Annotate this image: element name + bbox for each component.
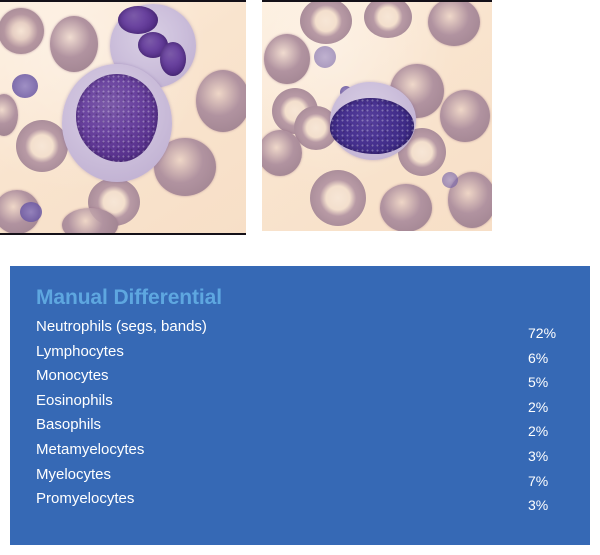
differential-label: Neutrophils (segs, bands) xyxy=(36,318,207,335)
platelet xyxy=(12,74,38,98)
platelet xyxy=(20,202,42,222)
differential-row: Eosinophils 2% xyxy=(10,392,590,417)
differential-value: 7% xyxy=(528,473,548,489)
manual-differential-title: Manual Differential xyxy=(36,286,222,310)
platelet xyxy=(442,172,458,188)
differential-label: Lymphocytes xyxy=(36,343,124,360)
differential-label: Myelocytes xyxy=(36,466,111,483)
differential-label: Metamyelocytes xyxy=(36,441,144,458)
differential-value: 2% xyxy=(528,423,548,439)
red-blood-cell xyxy=(50,16,98,72)
differential-value: 5% xyxy=(528,374,548,390)
red-blood-cell xyxy=(196,70,246,132)
red-blood-cell xyxy=(264,34,310,84)
differential-row: Promyelocytes 3% xyxy=(10,490,590,515)
manual-differential-panel: Manual Differential Neutrophils (segs, b… xyxy=(10,266,590,545)
red-blood-cell xyxy=(62,208,118,235)
neutrophil-nucleus-lobe xyxy=(118,6,158,34)
differential-value: 6% xyxy=(528,350,548,366)
blood-smear-micrograph-right xyxy=(262,0,492,231)
differential-label: Monocytes xyxy=(36,367,109,384)
differential-label: Basophils xyxy=(36,416,101,433)
differential-value: 72% xyxy=(528,325,556,341)
blood-smear-micrograph-left xyxy=(0,0,246,235)
red-blood-cell xyxy=(300,0,352,44)
red-blood-cell xyxy=(380,184,432,231)
differential-row: Monocytes 5% xyxy=(10,367,590,392)
red-blood-cell xyxy=(310,170,366,226)
differential-value: 3% xyxy=(528,497,548,513)
differential-label: Eosinophils xyxy=(36,392,113,409)
nuclear-chromatin-texture xyxy=(76,74,158,162)
differential-row: Metamyelocytes 3% xyxy=(10,441,590,466)
platelet xyxy=(314,46,336,68)
red-blood-cell xyxy=(16,120,68,172)
nuclear-chromatin-texture xyxy=(330,98,414,154)
red-blood-cell xyxy=(428,0,480,46)
neutrophil-nucleus-lobe xyxy=(160,42,186,76)
manual-differential-list: Neutrophils (segs, bands) 72% Lymphocyte… xyxy=(10,318,590,515)
differential-row: Neutrophils (segs, bands) 72% xyxy=(10,318,590,343)
differential-value: 3% xyxy=(528,448,548,464)
red-blood-cell xyxy=(0,8,44,54)
differential-row: Myelocytes 7% xyxy=(10,466,590,491)
differential-value: 2% xyxy=(528,399,548,415)
red-blood-cell xyxy=(440,90,490,142)
differential-row: Lymphocytes 6% xyxy=(10,343,590,368)
differential-row: Basophils 2% xyxy=(10,416,590,441)
differential-label: Promyelocytes xyxy=(36,490,134,507)
